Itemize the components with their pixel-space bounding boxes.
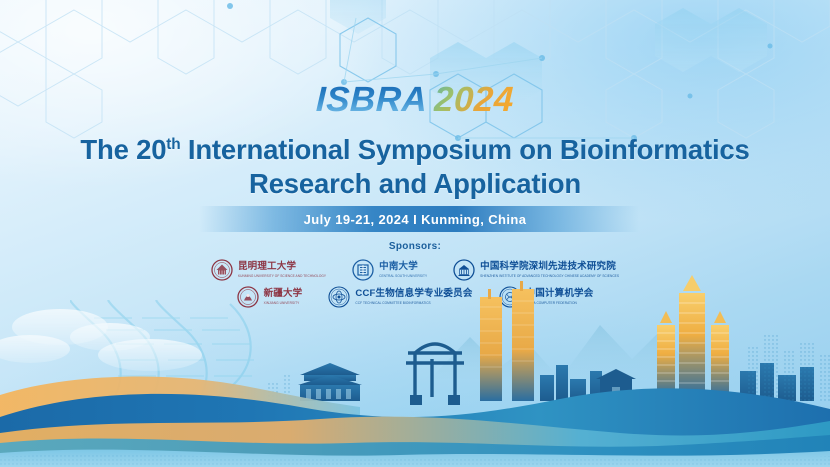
isbra-logo: ISBRA2024 (0, 82, 830, 117)
title-line1-rest: International Symposium on Bioinformatic… (180, 134, 749, 165)
isbra-logo-year: 2024 (433, 82, 514, 117)
sponsors-label: Sponsors: (0, 241, 830, 252)
title-ordinal-suffix: th (166, 136, 180, 153)
page-title: The 20th International Symposium on Bioi… (0, 133, 830, 202)
isbra-conference-banner: ISBRA2024 The 20th International Symposi… (0, 0, 830, 467)
date-location-bar: July 19-21, 2024 I Kunming, China (0, 206, 830, 232)
date-location-text: July 19-21, 2024 I Kunming, China (304, 212, 527, 227)
title-line2: Research and Application (0, 167, 830, 201)
isbra-logo-name: ISBRA (316, 82, 429, 117)
title-ordinal-prefix: The 20 (80, 134, 166, 165)
kunming-dali-skyline-silhouette (0, 267, 830, 467)
